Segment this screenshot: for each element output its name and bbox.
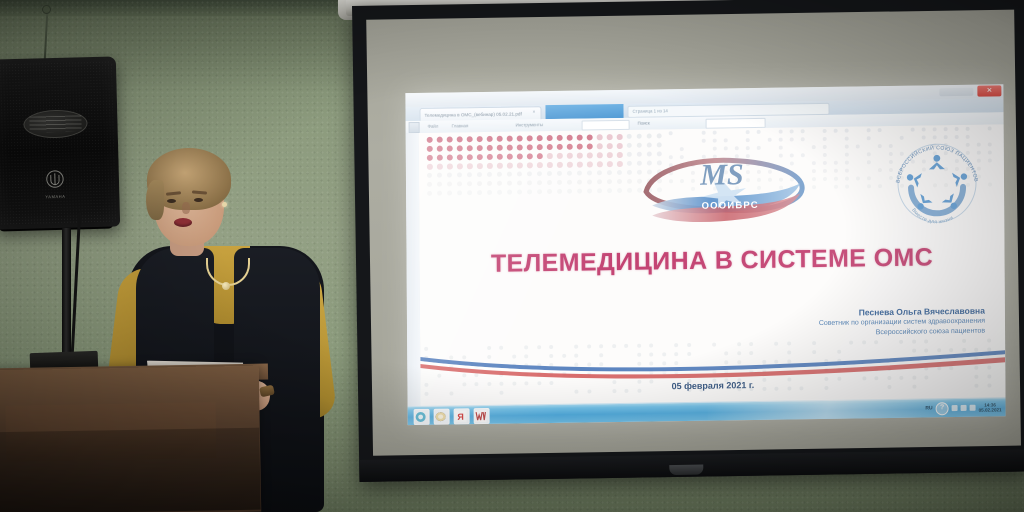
tray-icon-action-center[interactable] <box>970 405 976 411</box>
taskbar-icon-word[interactable] <box>474 408 490 424</box>
decor-dot <box>617 134 623 140</box>
decor-dot <box>447 181 452 186</box>
decor-dot <box>527 135 533 141</box>
conference-room-photo: ✕ Телемедицина в ОМС_(вебинар) 05.02.21.… <box>0 0 1024 512</box>
decor-dot <box>779 138 783 142</box>
slide-title: ТЕЛЕМЕДИЦИНА В СИСТЕМЕ ОМС <box>419 242 1004 280</box>
tab-close-icon[interactable]: × <box>532 110 537 115</box>
decor-dot <box>507 172 512 177</box>
toolbar-grid-icon[interactable] <box>409 122 420 133</box>
yamaha-logo: YAMAHA <box>35 170 76 195</box>
decor-dot <box>607 170 612 175</box>
decor-dot <box>547 171 552 176</box>
decor-dot <box>487 154 493 160</box>
decor-dot <box>867 176 871 180</box>
decor-dot <box>547 189 552 194</box>
speaker-stand-pole <box>62 228 71 368</box>
decor-dot <box>607 179 612 184</box>
decor-dot <box>567 171 572 176</box>
decor-dot <box>567 162 573 168</box>
decor-dot <box>988 150 992 154</box>
decor-dot <box>517 180 522 185</box>
cord-hook <box>42 5 51 14</box>
projector-screen: ✕ Телемедицина в ОМС_(вебинар) 05.02.21.… <box>352 0 1024 482</box>
decor-dot <box>467 163 473 169</box>
decor-dot <box>487 163 493 169</box>
decor-dot <box>427 182 432 187</box>
decor-dot <box>607 188 612 193</box>
tray-language-indicator[interactable]: RU <box>925 405 932 411</box>
presenter-eye-right <box>194 198 203 202</box>
decor-dot <box>955 127 959 131</box>
decor-dot <box>801 129 805 133</box>
decor-dot <box>457 190 462 195</box>
decor-dot <box>567 144 573 150</box>
decor-dot <box>845 169 849 173</box>
decor-dot <box>607 143 613 149</box>
decor-dot <box>557 135 563 141</box>
decor-dot <box>437 164 443 170</box>
decor-dot <box>437 191 442 196</box>
decor-dot <box>597 170 602 175</box>
decor-dot <box>790 129 794 133</box>
decor-dot <box>457 136 463 142</box>
decor-dot <box>657 133 662 138</box>
decor-dot <box>527 171 532 176</box>
decor-dot <box>537 153 543 159</box>
decor-dot <box>467 154 473 160</box>
decor-dot <box>527 144 533 150</box>
toolbar-tools-menu[interactable]: Инструменты <box>516 121 543 129</box>
decor-dot <box>537 180 542 185</box>
decor-dot <box>607 134 613 140</box>
decor-dot <box>845 185 849 189</box>
decor-dot <box>577 144 583 150</box>
decor-dot <box>437 173 442 178</box>
decor-dot <box>427 191 432 196</box>
decor-dot <box>834 161 838 165</box>
decor-dot <box>497 136 503 142</box>
decor-dot <box>507 190 512 195</box>
decor-dot <box>487 190 492 195</box>
decor-dot <box>713 139 717 143</box>
decor-dot <box>988 158 992 162</box>
lectern-shadow <box>0 428 261 512</box>
decor-dot <box>746 138 750 142</box>
decor-dot <box>867 136 871 140</box>
decor-dot <box>627 161 632 166</box>
presenter-pendant <box>222 282 230 290</box>
union-of-patients-logo: ВСЕРОССИЙСКИЙ СОЮЗ ПАЦИЕНТОВ Вместе для … <box>891 137 984 230</box>
taskbar-icon-browser[interactable] <box>414 409 430 425</box>
decor-dot <box>823 137 827 141</box>
decor-dot <box>878 128 882 132</box>
taskbar-icon-yandex[interactable]: Я <box>454 408 470 424</box>
decor-dot <box>427 155 433 161</box>
decor-dot <box>447 154 453 160</box>
decor-dot <box>911 128 915 132</box>
decor-dot <box>878 144 882 148</box>
decor-dot <box>801 137 805 141</box>
decor-dot <box>724 138 728 142</box>
tray-icon-volume[interactable] <box>961 405 967 411</box>
screen-surface: ✕ Телемедицина в ОМС_(вебинар) 05.02.21.… <box>366 10 1021 456</box>
decor-dot <box>617 179 622 184</box>
toolbar-search-label: Поиск <box>638 120 650 128</box>
decor-dot <box>944 127 948 131</box>
decor-dot <box>587 161 593 167</box>
toolbar-file-menu[interactable]: Файл <box>428 123 439 131</box>
tray-icon-network[interactable] <box>952 405 958 411</box>
screen-pull-handle <box>669 465 703 476</box>
decor-dot <box>597 152 603 158</box>
decor-dot <box>790 137 794 141</box>
decor-dot <box>487 181 492 186</box>
presenter-nose <box>182 202 190 214</box>
decor-dot <box>457 154 463 160</box>
decor-dot <box>517 135 523 141</box>
decor-dot <box>477 136 483 142</box>
decor-dot <box>457 163 463 169</box>
decor-dot <box>437 137 443 143</box>
decor-dot <box>477 181 482 186</box>
decor-dot <box>966 127 970 131</box>
decor-dot <box>487 136 493 142</box>
taskbar-icon-folder[interactable] <box>434 409 450 425</box>
decor-dot <box>547 162 553 168</box>
tabstrip-highlight <box>545 104 623 119</box>
decor-dot <box>878 184 882 188</box>
decor-dot <box>627 188 632 193</box>
decor-dot <box>845 153 849 157</box>
decor-dot <box>597 179 602 184</box>
decor-dot <box>834 129 838 133</box>
yamaha-wordmark: YAMAHA <box>35 194 75 200</box>
decor-dot <box>557 162 563 168</box>
clock-date: 05.02.2021 <box>979 407 1002 413</box>
decor-dot <box>823 145 827 149</box>
decor-dot <box>617 152 623 158</box>
decor-dot <box>497 181 502 186</box>
decor-dot <box>467 145 473 151</box>
decor-dot <box>507 163 513 169</box>
decor-dot <box>567 180 572 185</box>
decor-dot <box>447 172 452 177</box>
taskbar-glare <box>708 397 948 421</box>
decor-dot <box>577 171 582 176</box>
decor-dot <box>437 155 443 161</box>
decor-dot <box>627 143 632 148</box>
presenter-eye-left <box>167 199 176 203</box>
decor-dot <box>617 188 622 193</box>
decor-dot <box>597 188 602 193</box>
decor-dot <box>477 163 483 169</box>
decor-dot <box>617 161 623 167</box>
decor-dot <box>587 170 592 175</box>
decor-dot <box>834 185 838 189</box>
decor-dot <box>867 128 871 132</box>
decor-dot <box>627 152 632 157</box>
decor-dot <box>457 145 463 151</box>
decor-dot <box>823 153 827 157</box>
decor-dot <box>427 173 432 178</box>
decor-dot <box>713 131 717 135</box>
decor-dot <box>577 189 582 194</box>
decor-dot <box>637 134 642 139</box>
decor-dot <box>517 153 523 159</box>
decor-dot <box>517 171 522 176</box>
decor-dot <box>467 190 472 195</box>
decor-dot <box>557 153 563 159</box>
decor-dot <box>447 136 453 142</box>
decor-dot <box>557 189 562 194</box>
decor-dot <box>867 160 871 164</box>
decor-dot <box>507 181 512 186</box>
decor-dot <box>477 145 483 151</box>
decor-dot <box>597 161 603 167</box>
help-icon[interactable]: ? <box>936 402 949 415</box>
decor-dot <box>933 127 937 131</box>
decor-dot <box>567 189 572 194</box>
decor-dot <box>617 143 623 149</box>
pa-speaker-grille <box>0 61 116 226</box>
system-tray: RU ? 14:36 05.02.2021 <box>925 399 1001 416</box>
decor-dot <box>823 129 827 133</box>
decor-dot <box>557 171 562 176</box>
decor-dot <box>547 180 552 185</box>
decor-dot <box>497 172 502 177</box>
decor-dot <box>507 136 513 142</box>
decor-dot <box>537 144 543 150</box>
decor-dot <box>834 169 838 173</box>
decor-dot <box>437 182 442 187</box>
ooibrs-wordmark: ОООИБРС <box>702 200 759 212</box>
decor-dot <box>647 134 652 139</box>
pa-speaker: YAMAHA <box>0 56 120 229</box>
presentation-slide: MS ОООИБРС <box>419 124 1006 407</box>
decor-dot <box>823 169 827 173</box>
decor-dot <box>447 190 452 195</box>
ooibrs-logo: MS ОООИБРС <box>634 145 815 230</box>
decor-dot <box>497 190 502 195</box>
decor-dot <box>467 136 473 142</box>
decor-dot <box>527 162 533 168</box>
decor-dot <box>517 162 523 168</box>
decor-dot <box>867 152 871 156</box>
close-icon[interactable]: ✕ <box>977 85 1001 96</box>
decor-dot <box>537 171 542 176</box>
decor-dot <box>447 145 453 151</box>
decor-dot <box>457 181 462 186</box>
decor-dot <box>779 130 783 134</box>
decor-dot <box>467 172 472 177</box>
decor-dot <box>988 126 992 130</box>
decor-dot <box>597 143 603 149</box>
decor-dot <box>823 161 827 165</box>
decor-dot <box>845 137 849 141</box>
browser-tab-label: Телемедицина в ОМС_(вебинар) 05.02.21.pd… <box>425 109 529 120</box>
decor-dot <box>477 172 482 177</box>
decor-dot <box>497 145 503 151</box>
decor-dot <box>437 146 443 152</box>
decor-dot <box>497 154 503 160</box>
decor-dot <box>867 184 871 188</box>
decor-dot <box>597 134 603 140</box>
decor-dot <box>587 143 593 149</box>
window-minmax-buttons[interactable] <box>939 88 973 97</box>
decor-dot <box>856 176 860 180</box>
decor-dot <box>845 129 849 133</box>
decor-dot <box>607 152 613 158</box>
decor-dot <box>447 163 453 169</box>
presenter-lips <box>174 218 192 227</box>
decor-dot <box>768 138 772 142</box>
toolbar-home-menu[interactable]: Главная <box>452 122 469 130</box>
svg-text:MS: MS <box>699 158 744 192</box>
decor-dot <box>823 177 827 181</box>
decor-dot <box>587 179 592 184</box>
pa-plate-text-lines <box>29 115 81 132</box>
decor-dot <box>427 146 433 152</box>
taskbar-clock[interactable]: 14:36 05.02.2021 <box>979 402 1002 413</box>
decor-dot <box>507 145 513 151</box>
projected-desktop: ✕ Телемедицина в ОМС_(вебинар) 05.02.21.… <box>405 84 1005 425</box>
decor-dot <box>856 144 860 148</box>
decor-dot <box>557 144 563 150</box>
decor-dot <box>669 131 673 135</box>
decor-dot <box>517 189 522 194</box>
decor-dot <box>988 142 992 146</box>
presenter-hair-side <box>146 180 164 220</box>
decor-dot <box>537 162 543 168</box>
decor-dot <box>537 189 542 194</box>
decor-dot <box>627 179 632 184</box>
decor-dot <box>527 180 532 185</box>
decor-dot <box>497 163 503 169</box>
presenter-earring <box>222 202 227 207</box>
decor-dot <box>922 127 926 131</box>
decor-dot <box>702 131 706 135</box>
decor-dot <box>527 189 532 194</box>
decor-dot <box>537 135 543 141</box>
slide-presenter-block: Песнева Ольга Вячеславовна Советник по о… <box>685 305 985 341</box>
decor-dot <box>988 182 992 186</box>
decor-dot <box>845 161 849 165</box>
decor-dot <box>607 161 613 167</box>
decor-dot <box>617 170 622 175</box>
decor-dot <box>834 177 838 181</box>
decor-dot <box>577 180 582 185</box>
address-text: Страница 1 из 14 <box>632 107 667 116</box>
decor-dot <box>547 135 553 141</box>
decor-dot <box>587 152 593 158</box>
decor-dot <box>547 153 553 159</box>
close-glyph: ✕ <box>977 85 1001 96</box>
decor-dot <box>567 135 573 141</box>
decor-dot <box>467 181 472 186</box>
decor-dot <box>587 134 593 140</box>
decor-dot <box>427 164 433 170</box>
decor-dot <box>457 172 462 177</box>
decor-dot <box>627 134 632 139</box>
decor-dot <box>427 137 433 143</box>
decor-dot <box>577 153 583 159</box>
decor-dot <box>702 139 706 143</box>
decor-dot <box>527 153 533 159</box>
decor-dot <box>845 145 849 149</box>
decor-dot <box>587 188 592 193</box>
decor-dot <box>487 172 492 177</box>
decor-dot <box>477 154 483 160</box>
svg-text:Я: Я <box>457 412 464 422</box>
yamaha-tuning-fork-icon <box>45 170 65 189</box>
decor-dot <box>627 170 632 175</box>
decor-dot <box>746 130 750 134</box>
decor-dot <box>547 144 553 150</box>
decor-dot <box>487 145 493 151</box>
decor-dot <box>477 190 482 195</box>
decor-dot <box>567 153 573 159</box>
decor-dot <box>878 168 882 172</box>
decor-dot <box>577 135 583 141</box>
decor-dot <box>507 154 513 160</box>
decor-dot <box>557 180 562 185</box>
decor-dot <box>845 177 849 181</box>
decor-dot <box>517 144 523 150</box>
decor-dot <box>577 162 583 168</box>
decor-dot <box>757 130 761 134</box>
